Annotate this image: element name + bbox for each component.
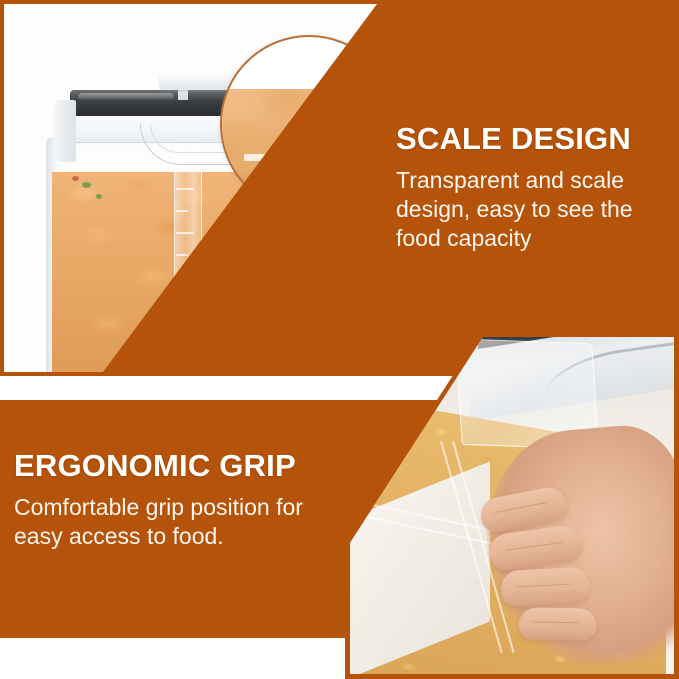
container-vent-hole (288, 179, 304, 186)
knuckle-crease (517, 584, 571, 588)
scale-design-heading: SCALE DESIGN (396, 123, 658, 156)
pasta-fleck (72, 176, 79, 181)
hand-grip-photo (350, 337, 674, 674)
scale-tick (176, 254, 188, 256)
container-ribbing (268, 258, 284, 372)
ergonomic-grip-photo-panel (345, 332, 679, 679)
scale-tick (176, 166, 188, 168)
scale-tick-icon (244, 154, 306, 161)
scale-value-unit: oz (362, 138, 392, 171)
ergonomic-grip-text-block: ERGONOMIC GRIP Comfortable grip position… (14, 450, 324, 551)
scale-value-number: 120 (302, 131, 362, 173)
pasta-fleck (82, 182, 91, 188)
scale-tick (176, 188, 194, 190)
lid-highlight (78, 93, 174, 101)
lid-latch-handle (160, 74, 238, 90)
scale-tick (176, 232, 194, 234)
knuckle-crease (494, 502, 547, 513)
ergonomic-grip-body: Comfortable grip position for easy acces… (14, 493, 324, 552)
top-row: 120oz SCALE DESIGN Transparent and scale… (0, 0, 679, 376)
knuckle-crease (533, 622, 579, 624)
scale-design-body: Transparent and scale design, easy to se… (396, 166, 658, 254)
scale-design-text-block: SCALE DESIGN Transparent and scale desig… (396, 123, 658, 254)
scale-tick (176, 342, 188, 344)
pasta-fleck (96, 194, 102, 199)
scale-tick (176, 298, 188, 300)
scale-tick (176, 276, 194, 278)
finger (500, 567, 590, 608)
finger (518, 607, 597, 640)
lid-side-clip (54, 100, 76, 162)
knuckle-crease (506, 542, 564, 551)
scale-tick (176, 320, 194, 322)
ergonomic-grip-heading: ERGONOMIC GRIP (14, 450, 324, 483)
product-feature-infographic: 120oz SCALE DESIGN Transparent and scale… (0, 0, 679, 679)
scale-value-label: 120oz (302, 133, 392, 171)
measurement-scale-strip (174, 138, 202, 372)
magnifier-circle-icon: 120oz (220, 35, 398, 213)
scale-tick (176, 210, 188, 212)
